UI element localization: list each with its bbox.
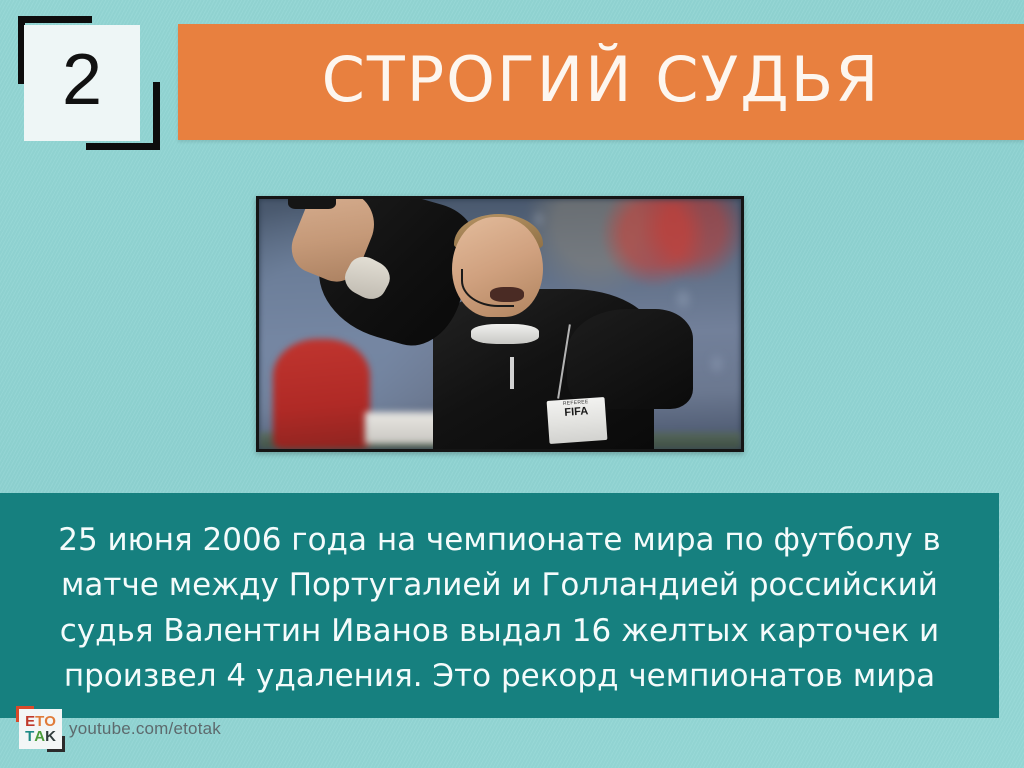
slide-number-text: 2 — [24, 25, 140, 141]
logo-letter: K — [45, 729, 56, 744]
title-bar: СТРОГИЙ СУДЬЯ — [178, 24, 1024, 140]
slide-canvas: 2 СТРОГИЙ СУДЬЯ — [0, 0, 1024, 768]
page-title: СТРОГИЙ СУДЬЯ — [322, 49, 881, 115]
jersey-piping-front — [510, 357, 514, 390]
logo-letter: E — [25, 714, 35, 729]
channel-url-text[interactable]: youtube.com/etotak — [69, 719, 221, 739]
body-line: судья Валентин Иванов выдал 16 желтых ка… — [60, 609, 939, 654]
logo-line-two: T A K — [25, 729, 56, 744]
referee-right-shoulder — [567, 309, 692, 409]
slide-number-badge: 2 — [10, 10, 170, 158]
body-line: 25 июня 2006 года на чемпионате мира по … — [58, 518, 941, 563]
logo-letter: A — [34, 729, 45, 744]
logo-letter: O — [44, 714, 56, 729]
logo-letter: T — [35, 714, 44, 729]
referee-fifa-badge: REFEREE FIFA — [547, 397, 608, 443]
referee-collar — [471, 324, 538, 344]
badge-fifa-label: FIFA — [564, 405, 589, 419]
channel-logo[interactable]: E T O T A K youtube.com/etotak — [19, 707, 221, 751]
body-text: 25 июня 2006 года на чемпионате мира по … — [0, 493, 999, 718]
body-line: произвел 4 удаления. Это рекорд чемпиона… — [64, 654, 935, 699]
body-text-panel: 25 июня 2006 года на чемпионате мира по … — [0, 493, 999, 718]
logo-letter: T — [25, 729, 34, 744]
body-line: матче между Португалией и Голландией рос… — [61, 563, 938, 608]
referee-hand-holding-card — [288, 199, 336, 209]
referee-photo: REFEREE FIFA — [259, 199, 741, 449]
slide-number-square: 2 — [24, 25, 140, 141]
photo-frame: REFEREE FIFA — [256, 196, 744, 452]
logo-line-one: E T O — [25, 714, 56, 729]
etotak-logo-icon[interactable]: E T O T A K — [19, 709, 62, 749]
referee-figure: REFEREE FIFA — [259, 199, 741, 449]
